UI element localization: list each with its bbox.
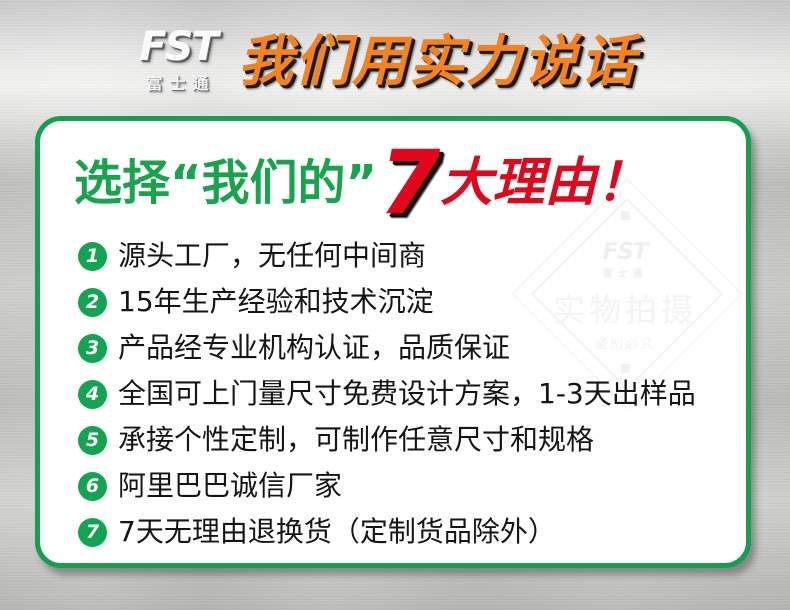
reason-number-badge: 6 xyxy=(78,472,107,501)
reason-number-badge: 4 xyxy=(78,380,107,409)
reason-text: 产品经专业机构认证，品质保证 xyxy=(118,331,510,365)
reason-number-badge: 7 xyxy=(78,518,107,547)
title-green-part: 选择“我们的” xyxy=(74,155,377,211)
reasons-list: 1源头工厂，无任何中间商215年生产经验和技术沉淀3产品经专业机构认证，品质保证… xyxy=(78,233,732,555)
list-item: 77天无理由退换货（定制货品除外） xyxy=(78,509,732,555)
brand-logo: FST 富士通 xyxy=(118,26,238,94)
card-title: 选择“我们的”7大理由！ xyxy=(74,143,648,223)
headline-slogan: 我们用实力说话 xyxy=(238,30,637,92)
reason-text: 7天无理由退换货（定制货品除外） xyxy=(118,515,556,549)
list-item: 6阿里巴巴诚信厂家 xyxy=(78,463,732,509)
reason-text: 源头工厂，无任何中间商 xyxy=(118,239,426,273)
reason-text: 15年生产经验和技术沉淀 xyxy=(118,285,434,319)
reason-number-badge: 2 xyxy=(78,288,107,317)
list-item: 3产品经专业机构认证，品质保证 xyxy=(78,325,732,371)
reasons-card: FST 富士通 实物拍摄 盗图必究 选择“我们的”7大理由！ 1源头工厂，无任何… xyxy=(35,116,751,568)
promo-poster: FST 富士通 我们用实力说话 FST 富士通 实物拍摄 盗图必究 选择“我们的… xyxy=(0,0,790,610)
logo-wordmark: FST xyxy=(118,26,238,68)
title-red-part: 大理由！ xyxy=(440,153,648,213)
poster-header: FST 富士通 我们用实力说话 xyxy=(0,0,790,115)
title-number: 7 xyxy=(379,131,438,234)
list-item: 5承接个性定制，可制作任意尺寸和规格 xyxy=(78,417,732,463)
list-item: 215年生产经验和技术沉淀 xyxy=(78,279,732,325)
reason-number-badge: 5 xyxy=(78,426,107,455)
reason-text: 承接个性定制，可制作任意尺寸和规格 xyxy=(118,423,594,457)
logo-chinese-name: 富士通 xyxy=(124,70,238,94)
reason-text: 全国可上门量尺寸免费设计方案，1-3天出样品 xyxy=(118,377,696,411)
list-item: 4全国可上门量尺寸免费设计方案，1-3天出样品 xyxy=(78,371,732,417)
reason-number-badge: 3 xyxy=(78,334,107,363)
list-item: 1源头工厂，无任何中间商 xyxy=(78,233,732,279)
reason-text: 阿里巴巴诚信厂家 xyxy=(118,469,342,503)
reason-number-badge: 1 xyxy=(78,242,107,271)
